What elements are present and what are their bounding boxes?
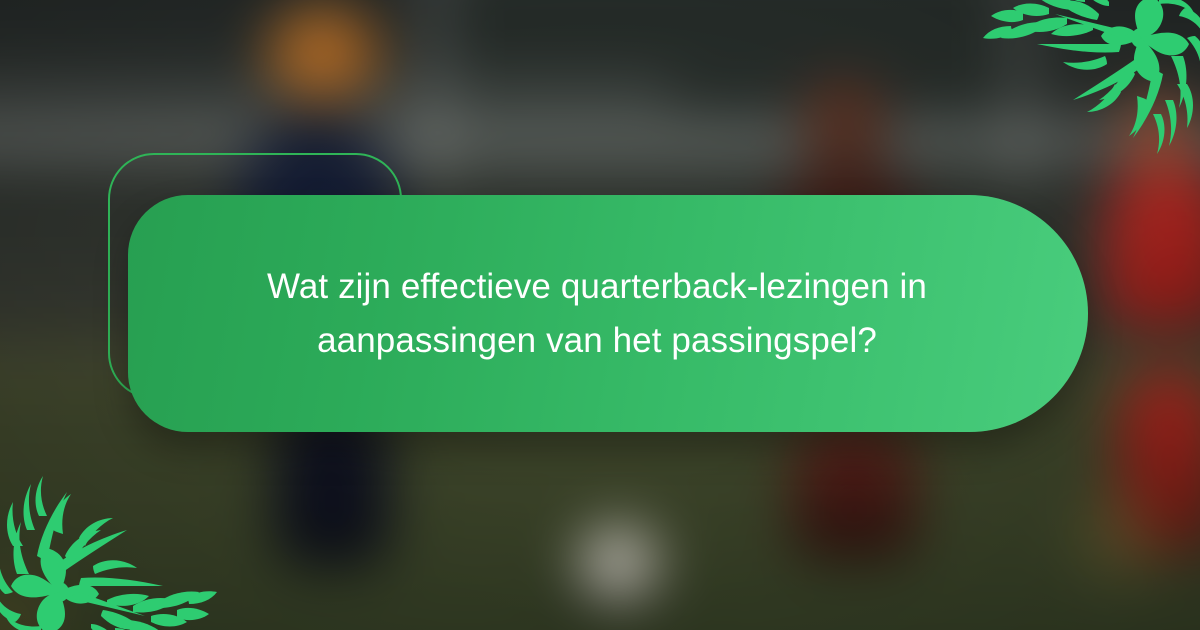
question-card: Wat zijn effectieve quarterback-lezingen…: [128, 195, 1088, 432]
question-text: Wat zijn effectieve quarterback-lezingen…: [224, 260, 970, 366]
question-card-banner: Wat zijn effectieve quarterback-lezingen…: [0, 0, 1200, 630]
